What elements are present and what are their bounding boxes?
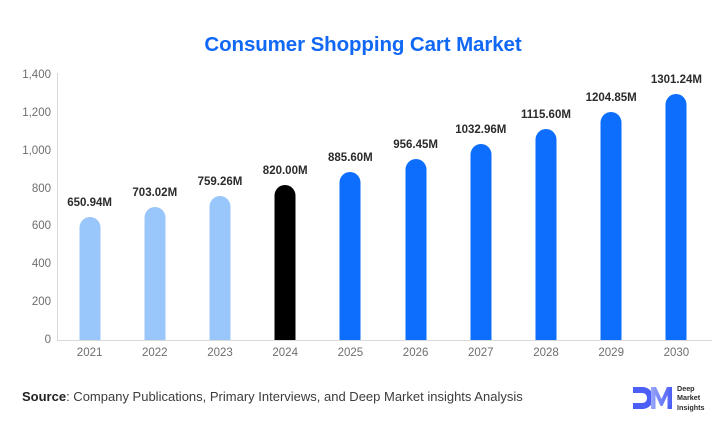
bar-group: 1032.96M: [448, 75, 513, 340]
bar-group: 1301.24M: [644, 75, 709, 340]
y-tick-label: 1,400: [5, 69, 51, 81]
dm-monogram-icon: [632, 385, 672, 411]
x-axis-tick-labels: 2021202220232024202520262027202820292030: [57, 347, 709, 367]
bar-group: 956.45M: [383, 75, 448, 340]
bar-value-label: 1204.85M: [586, 92, 637, 104]
bar-2027[interactable]: [470, 144, 491, 340]
y-tick-label: 800: [5, 183, 51, 195]
bar-2022[interactable]: [144, 207, 165, 340]
deep-market-insights-logo: Deep Market Insights: [632, 381, 714, 415]
bar-group: 1115.60M: [513, 75, 578, 340]
y-axis-tick-labels: 02004006008001,0001,2001,400: [0, 75, 51, 340]
chart-figure: Consumer Shopping Cart Market 0200400600…: [0, 0, 726, 443]
bar-2023[interactable]: [209, 196, 230, 340]
bar-value-label: 650.94M: [67, 197, 112, 209]
bar-value-label: 1032.96M: [455, 124, 506, 136]
bar-2028[interactable]: [535, 129, 556, 340]
bar-2026[interactable]: [405, 159, 426, 340]
bar-group: 703.02M: [122, 75, 187, 340]
bar-value-label: 703.02M: [132, 187, 177, 199]
bar-group: 820.00M: [253, 75, 318, 340]
logo-wordmark: Deep Market Insights: [677, 384, 705, 412]
logo-line-2: Market: [677, 393, 705, 402]
y-tick-label: 400: [5, 258, 51, 270]
bar-value-label: 1115.60M: [521, 109, 571, 121]
x-tick-label: 2026: [383, 347, 448, 359]
y-tick-label: 0: [5, 334, 51, 346]
bar-2025[interactable]: [340, 172, 361, 340]
x-tick-label: 2029: [579, 347, 644, 359]
x-tick-label: 2023: [187, 347, 252, 359]
y-tick-label: 600: [5, 220, 51, 232]
bar-value-label: 759.26M: [198, 176, 243, 188]
y-tick-label: 1,000: [5, 145, 51, 157]
source-description: : Company Publications, Primary Intervie…: [66, 389, 523, 404]
bar-group: 650.94M: [57, 75, 122, 340]
bar-value-label: 956.45M: [393, 139, 438, 151]
bar-2024[interactable]: [275, 185, 296, 340]
bar-group: 759.26M: [187, 75, 252, 340]
bar-2029[interactable]: [601, 112, 622, 340]
x-tick-label: 2025: [318, 347, 383, 359]
bar-2030[interactable]: [666, 94, 687, 340]
x-tick-label: 2028: [513, 347, 578, 359]
bar-value-label: 820.00M: [263, 165, 308, 177]
chart-title: Consumer Shopping Cart Market: [0, 33, 726, 57]
chart-footer: Source: Company Publications, Primary In…: [0, 380, 726, 443]
bar-value-label: 885.60M: [328, 152, 373, 164]
plot-area: 650.94M703.02M759.26M820.00M885.60M956.4…: [57, 75, 709, 340]
y-tick-label: 200: [5, 296, 51, 308]
logo-line-3: Insights: [677, 403, 705, 412]
x-tick-label: 2024: [253, 347, 318, 359]
x-axis-line: [57, 340, 712, 341]
x-tick-label: 2022: [122, 347, 187, 359]
source-note: Source: Company Publications, Primary In…: [22, 389, 523, 404]
bar-value-label: 1301.24M: [651, 74, 702, 86]
bar-group: 1204.85M: [579, 75, 644, 340]
x-tick-label: 2030: [644, 347, 709, 359]
logo-line-1: Deep: [677, 384, 705, 393]
source-label: Source: [22, 389, 66, 404]
bar-2021[interactable]: [79, 217, 100, 340]
x-tick-label: 2027: [448, 347, 513, 359]
x-tick-label: 2021: [57, 347, 122, 359]
y-tick-label: 1,200: [5, 107, 51, 119]
bar-group: 885.60M: [318, 75, 383, 340]
